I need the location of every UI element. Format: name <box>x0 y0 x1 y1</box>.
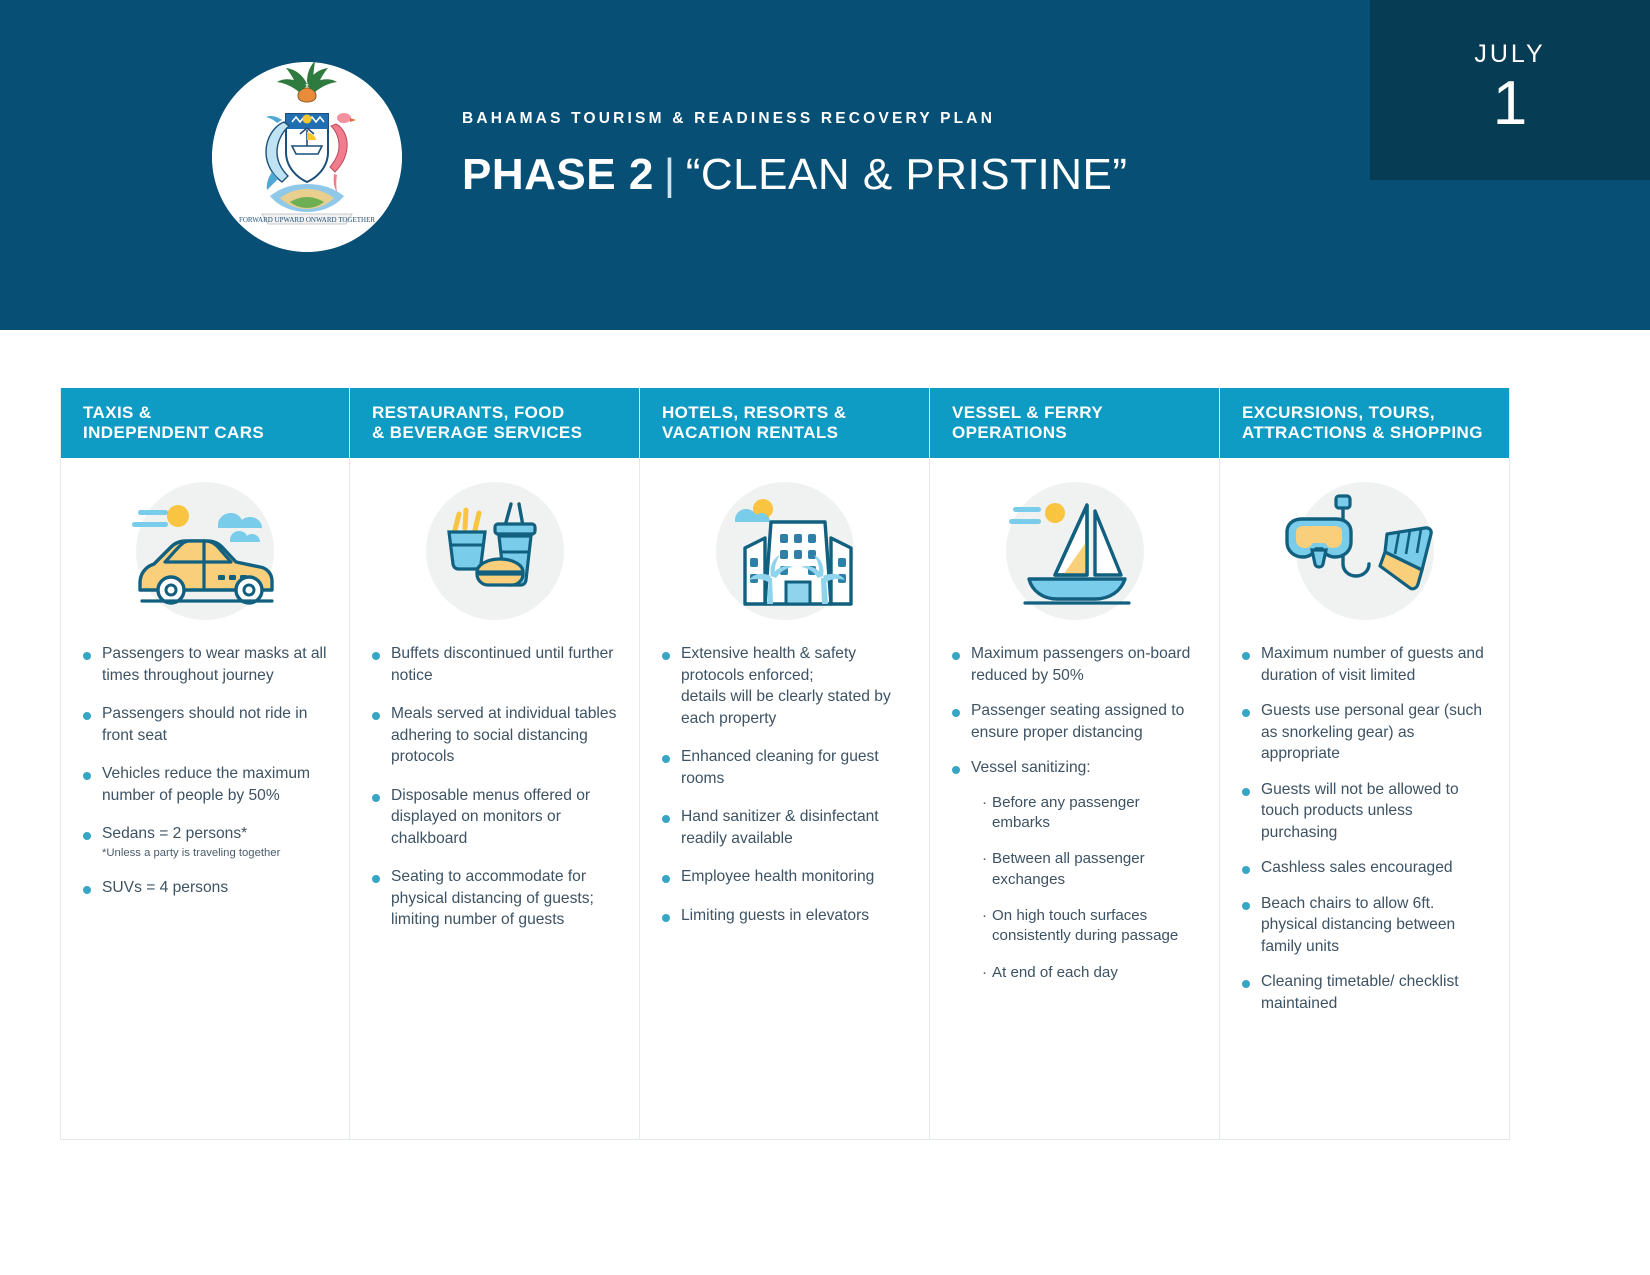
sub-bullet-dot-icon: · <box>982 906 987 947</box>
list-item: Vehicles reduce the maximum number of pe… <box>83 763 329 806</box>
bullet-text: Maximum passengers on-board reduced by 5… <box>971 643 1199 686</box>
sub-list-item: · Between all passenger exchanges <box>982 849 1199 890</box>
bullet-dot-icon <box>372 652 380 660</box>
list-item: Passengers should not ride in front seat <box>83 703 329 746</box>
bullet-dot-icon <box>83 772 91 780</box>
header-text-block: BAHAMAS TOURISM & READINESS RECOVERY PLA… <box>462 110 1127 200</box>
list-item: Buffets discontinued until further notic… <box>372 643 619 686</box>
header-kicker: BAHAMAS TOURISM & READINESS RECOVERY PLA… <box>462 110 1127 128</box>
taxi-icon <box>61 458 349 643</box>
sub-bullet-dot-icon: · <box>982 849 987 890</box>
column-excursions: EXCURSIONS, TOURS, ATTRACTIONS & SHOPPIN… <box>1220 388 1510 1140</box>
title-phase: PHASE 2 <box>462 150 654 199</box>
bullet-dot-icon <box>662 815 670 823</box>
column-taxis: TAXIS & INDEPENDENT CARS <box>60 388 350 1140</box>
sub-bullet-dot-icon: · <box>982 793 987 834</box>
list-item: Hand sanitizer & disinfectant readily av… <box>662 806 909 849</box>
column-restaurants: RESTAURANTS, FOOD & BEVERAGE SERVICES <box>350 388 640 1140</box>
list-item: SUVs = 4 persons <box>83 877 329 899</box>
bullet-list-excursions: Maximum number of guests and duration of… <box>1220 643 1509 1014</box>
bullet-text: Cashless sales encouraged <box>1261 857 1453 879</box>
list-item: Limiting guests in elevators <box>662 905 909 927</box>
food-beverage-icon <box>350 458 639 643</box>
bullet-text: Enhanced cleaning for guest rooms <box>681 746 909 789</box>
column-title: VESSEL & FERRY OPERATIONS <box>952 403 1103 444</box>
bullet-text: Guests will not be allowed to touch prod… <box>1261 779 1489 844</box>
page-header: FORWARD UPWARD ONWARD TOGETHER BAHAMAS T… <box>0 0 1650 330</box>
bullet-text: Employee health monitoring <box>681 866 874 888</box>
list-item: Meals served at individual tables adheri… <box>372 703 619 768</box>
sub-bullet-text: Between all passenger exchanges <box>992 849 1199 890</box>
bullet-dot-icon <box>662 875 670 883</box>
bullet-text-with-note: Sedans = 2 persons* *Unless a party is t… <box>102 823 280 860</box>
bullet-text: Hand sanitizer & disinfectant readily av… <box>681 806 909 849</box>
title-theme: “CLEAN & PRISTINE” <box>686 150 1128 199</box>
column-header-excursions: EXCURSIONS, TOURS, ATTRACTIONS & SHOPPIN… <box>1220 388 1509 458</box>
bullet-dot-icon <box>952 652 960 660</box>
bullet-text: Passengers to wear masks at all times th… <box>102 643 329 686</box>
bullet-list-vessel-ferry: Maximum passengers on-board reduced by 5… <box>930 643 1219 984</box>
bullet-dot-icon <box>83 832 91 840</box>
bullet-dot-icon <box>83 712 91 720</box>
bullet-footnote: *Unless a party is traveling together <box>102 846 280 861</box>
bullet-text: Vessel sanitizing: <box>971 757 1091 779</box>
bullet-dot-icon <box>1242 709 1250 717</box>
bullet-text: Maximum number of guests and duration of… <box>1261 643 1489 686</box>
list-item: Guests will not be allowed to touch prod… <box>1242 779 1489 844</box>
bullet-dot-icon <box>372 712 380 720</box>
list-item: Maximum number of guests and duration of… <box>1242 643 1489 686</box>
column-title: RESTAURANTS, FOOD & BEVERAGE SERVICES <box>372 403 582 444</box>
sub-bullet-dot-icon: · <box>982 963 987 984</box>
bullet-text: Cleaning timetable/ checklist maintained <box>1261 971 1489 1014</box>
bullet-dot-icon <box>372 794 380 802</box>
list-item: Extensive health & safety protocols enfo… <box>662 643 909 729</box>
bullet-dot-icon <box>1242 902 1250 910</box>
list-item: Sedans = 2 persons* *Unless a party is t… <box>83 823 329 860</box>
bullet-dot-icon <box>952 709 960 717</box>
bullet-dot-icon <box>1242 980 1250 988</box>
bullet-text: Vehicles reduce the maximum number of pe… <box>102 763 329 806</box>
list-item: Cleaning timetable/ checklist maintained <box>1242 971 1489 1014</box>
bullet-list-taxis: Passengers to wear masks at all times th… <box>61 643 349 899</box>
bullet-dot-icon <box>83 652 91 660</box>
bullet-dot-icon <box>1242 788 1250 796</box>
sub-list-item: · Before any passenger embarks <box>982 793 1199 834</box>
bullet-text: Buffets discontinued until further notic… <box>391 643 619 686</box>
list-item: Disposable menus offered or displayed on… <box>372 785 619 850</box>
page-title: PHASE 2|“CLEAN & PRISTINE” <box>462 150 1127 200</box>
sub-list-item: · On high touch surfaces consistently du… <box>982 906 1199 947</box>
categories-board: TAXIS & INDEPENDENT CARS <box>60 388 1510 1140</box>
bullet-text: Extensive health & safety protocols enfo… <box>681 643 909 729</box>
infographic-page: FORWARD UPWARD ONWARD TOGETHER BAHAMAS T… <box>0 0 1650 1275</box>
title-divider: | <box>654 150 686 199</box>
bullet-text: Beach chairs to allow 6ft. physical dist… <box>1261 893 1489 958</box>
bullet-text: Limiting guests in elevators <box>681 905 869 927</box>
list-item: Cashless sales encouraged <box>1242 857 1489 879</box>
sub-bullet-text: At end of each day <box>992 963 1118 984</box>
svg-text:FORWARD UPWARD ONWARD TOGETHER: FORWARD UPWARD ONWARD TOGETHER <box>239 216 375 224</box>
bullet-dot-icon <box>662 652 670 660</box>
date-month: JULY <box>1474 42 1545 67</box>
column-vessel-ferry: VESSEL & FERRY OPERATIONS <box>930 388 1220 1140</box>
bahamas-coat-of-arms-icon: FORWARD UPWARD ONWARD TOGETHER <box>212 62 402 252</box>
sub-list-item: · At end of each day <box>982 963 1199 984</box>
column-header-restaurants: RESTAURANTS, FOOD & BEVERAGE SERVICES <box>350 388 639 458</box>
bullet-list-restaurants: Buffets discontinued until further notic… <box>350 643 639 931</box>
bullet-text: Passenger seating assigned to ensure pro… <box>971 700 1199 743</box>
bullet-dot-icon <box>1242 652 1250 660</box>
list-item: Enhanced cleaning for guest rooms <box>662 746 909 789</box>
column-hotels: HOTELS, RESORTS & VACATION RENTALS <box>640 388 930 1140</box>
list-item: Vessel sanitizing: <box>952 757 1199 779</box>
bullet-text: Disposable menus offered or displayed on… <box>391 785 619 850</box>
date-day: 1 <box>1493 71 1527 136</box>
column-header-hotels: HOTELS, RESORTS & VACATION RENTALS <box>640 388 929 458</box>
list-item: Passenger seating assigned to ensure pro… <box>952 700 1199 743</box>
hotel-icon <box>640 458 929 643</box>
bullet-text: Guests use personal gear (such as snorke… <box>1261 700 1489 765</box>
column-title: HOTELS, RESORTS & VACATION RENTALS <box>662 403 846 444</box>
list-item: Passengers to wear masks at all times th… <box>83 643 329 686</box>
column-header-taxis: TAXIS & INDEPENDENT CARS <box>61 388 349 458</box>
sub-bullet-text: On high touch surfaces consistently duri… <box>992 906 1199 947</box>
bullet-text: Passengers should not ride in front seat <box>102 703 329 746</box>
bullet-text: Meals served at individual tables adheri… <box>391 703 619 768</box>
list-item: Maximum passengers on-board reduced by 5… <box>952 643 1199 686</box>
list-item: Beach chairs to allow 6ft. physical dist… <box>1242 893 1489 958</box>
column-title: TAXIS & INDEPENDENT CARS <box>83 403 264 444</box>
sub-bullet-text: Before any passenger embarks <box>992 793 1199 834</box>
bullet-dot-icon <box>1242 866 1250 874</box>
list-item: Guests use personal gear (such as snorke… <box>1242 700 1489 765</box>
bullet-text: Seating to accommodate for physical dist… <box>391 866 619 931</box>
bullet-text: SUVs = 4 persons <box>102 877 228 899</box>
snorkel-gear-icon <box>1220 458 1509 643</box>
column-title: EXCURSIONS, TOURS, ATTRACTIONS & SHOPPIN… <box>1242 403 1483 444</box>
bullet-text: Sedans = 2 persons* <box>102 825 247 842</box>
bullet-dot-icon <box>952 766 960 774</box>
list-item: Employee health monitoring <box>662 866 909 888</box>
sailboat-icon <box>930 458 1219 643</box>
bullet-dot-icon <box>662 755 670 763</box>
column-header-vessel-ferry: VESSEL & FERRY OPERATIONS <box>930 388 1219 458</box>
bullet-dot-icon <box>372 875 380 883</box>
bullet-dot-icon <box>662 914 670 922</box>
date-badge: JULY 1 <box>1370 0 1650 180</box>
list-item: Seating to accommodate for physical dist… <box>372 866 619 931</box>
bullet-dot-icon <box>83 886 91 894</box>
bullet-list-hotels: Extensive health & safety protocols enfo… <box>640 643 929 926</box>
